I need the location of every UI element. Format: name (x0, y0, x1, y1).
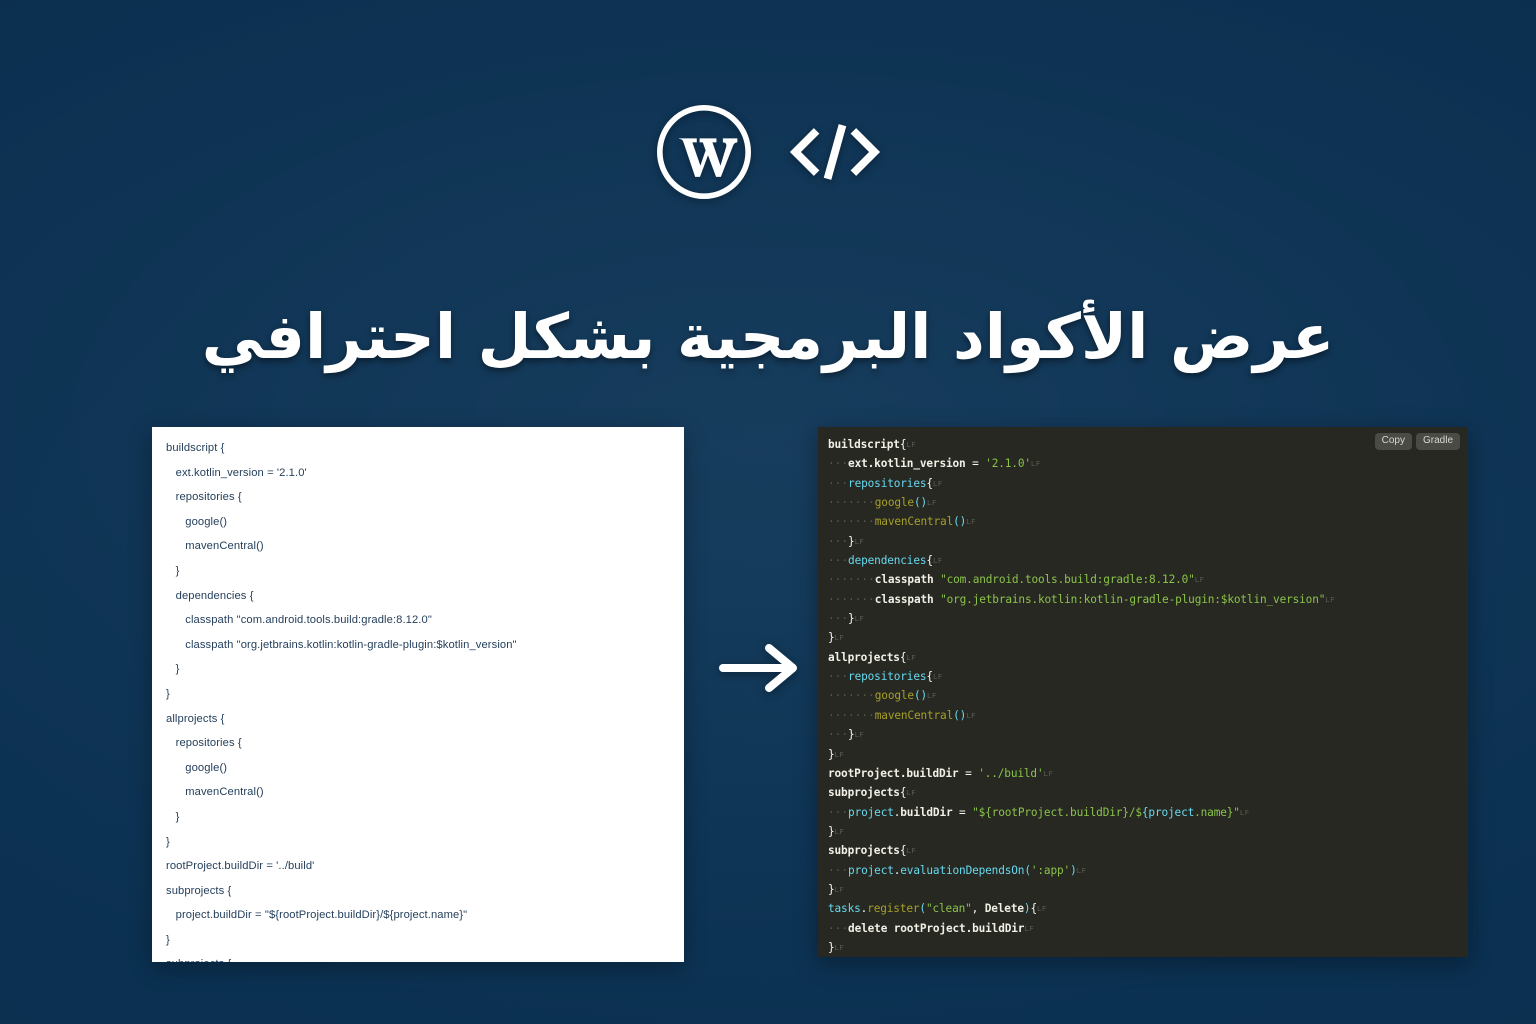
comparison-panels: buildscript { ext.kotlin_version = '2.1.… (0, 427, 1536, 967)
code-line: ···project.buildDir = "${rootProject.bui… (828, 803, 1456, 822)
code-line: ···repositories{LF (828, 474, 1456, 493)
code-line: subprojects{LF (828, 783, 1456, 802)
header-logo-row (0, 96, 1536, 208)
plain-code-panel: buildscript { ext.kotlin_version = '2.1.… (152, 427, 684, 962)
code-line: ···repositories{LF (828, 667, 1456, 686)
code-line: allprojects{LF (828, 648, 1456, 667)
code-line: tasks.register("clean", Delete){LF (828, 899, 1456, 918)
copy-button[interactable]: Copy (1375, 433, 1412, 450)
code-line: }LF (828, 628, 1456, 647)
code-line: ···}LF (828, 725, 1456, 744)
code-line: subprojects{LF (828, 841, 1456, 860)
code-line: ···delete rootProject.buildDirLF (828, 919, 1456, 938)
code-line: ·······google()LF (828, 493, 1456, 512)
code-line: }LF (828, 880, 1456, 899)
arrow-right-icon (718, 642, 804, 694)
code-tag-icon (789, 117, 881, 187)
code-line: }LF (828, 822, 1456, 841)
code-line: }LF (828, 745, 1456, 764)
code-line: ·······classpath "org.jetbrains.kotlin:k… (828, 590, 1456, 609)
code-line: ···ext.kotlin_version = '2.1.0'LF (828, 454, 1456, 473)
code-line: ·······mavenCentral()LF (828, 706, 1456, 725)
plain-code-text: buildscript { ext.kotlin_version = '2.1.… (152, 427, 684, 962)
highlighted-code-panel: Copy Gradle buildscript{LF···ext.kotlin_… (818, 427, 1468, 957)
page-title: عرض الأكواد البرمجية بشكل احترافي (0, 300, 1536, 373)
code-line: ·······google()LF (828, 686, 1456, 705)
code-line: ···}LF (828, 532, 1456, 551)
code-line: ···dependencies{LF (828, 551, 1456, 570)
code-line: rootProject.buildDir = '../build'LF (828, 764, 1456, 783)
code-line: buildscript{LF (828, 435, 1456, 454)
code-line: ·······classpath "com.android.tools.buil… (828, 570, 1456, 589)
code-line: ·······mavenCentral()LF (828, 512, 1456, 531)
wordpress-logo-icon (655, 103, 753, 201)
language-badge-gradle[interactable]: Gradle (1416, 433, 1460, 450)
code-panel-toolbar: Copy Gradle (1375, 433, 1460, 450)
highlighted-code-text: buildscript{LF···ext.kotlin_version = '2… (818, 427, 1468, 957)
code-line: }LF (828, 938, 1456, 957)
slide-background: عرض الأكواد البرمجية بشكل احترافي builds… (0, 0, 1536, 1024)
transform-arrow (706, 633, 816, 703)
code-line: ···project.evaluationDependsOn(':app')LF (828, 861, 1456, 880)
code-line: ···}LF (828, 609, 1456, 628)
